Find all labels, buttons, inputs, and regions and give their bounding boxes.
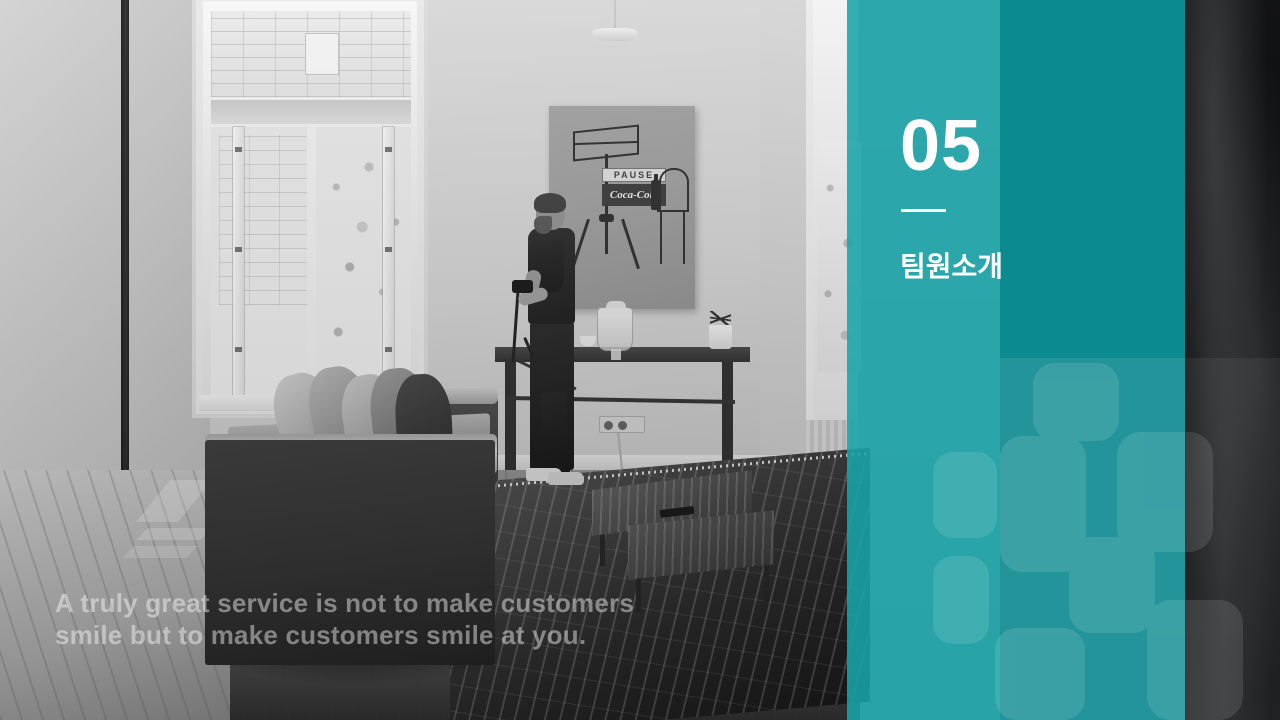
section-title: 팀원소개 — [900, 249, 1003, 285]
presentation-slide: PAUSE Coca-Cola — [0, 0, 1280, 720]
divider-rule-icon — [901, 209, 946, 212]
quote-text: A truly great service is not to make cus… — [55, 588, 665, 651]
section-number: 05 — [900, 110, 982, 182]
